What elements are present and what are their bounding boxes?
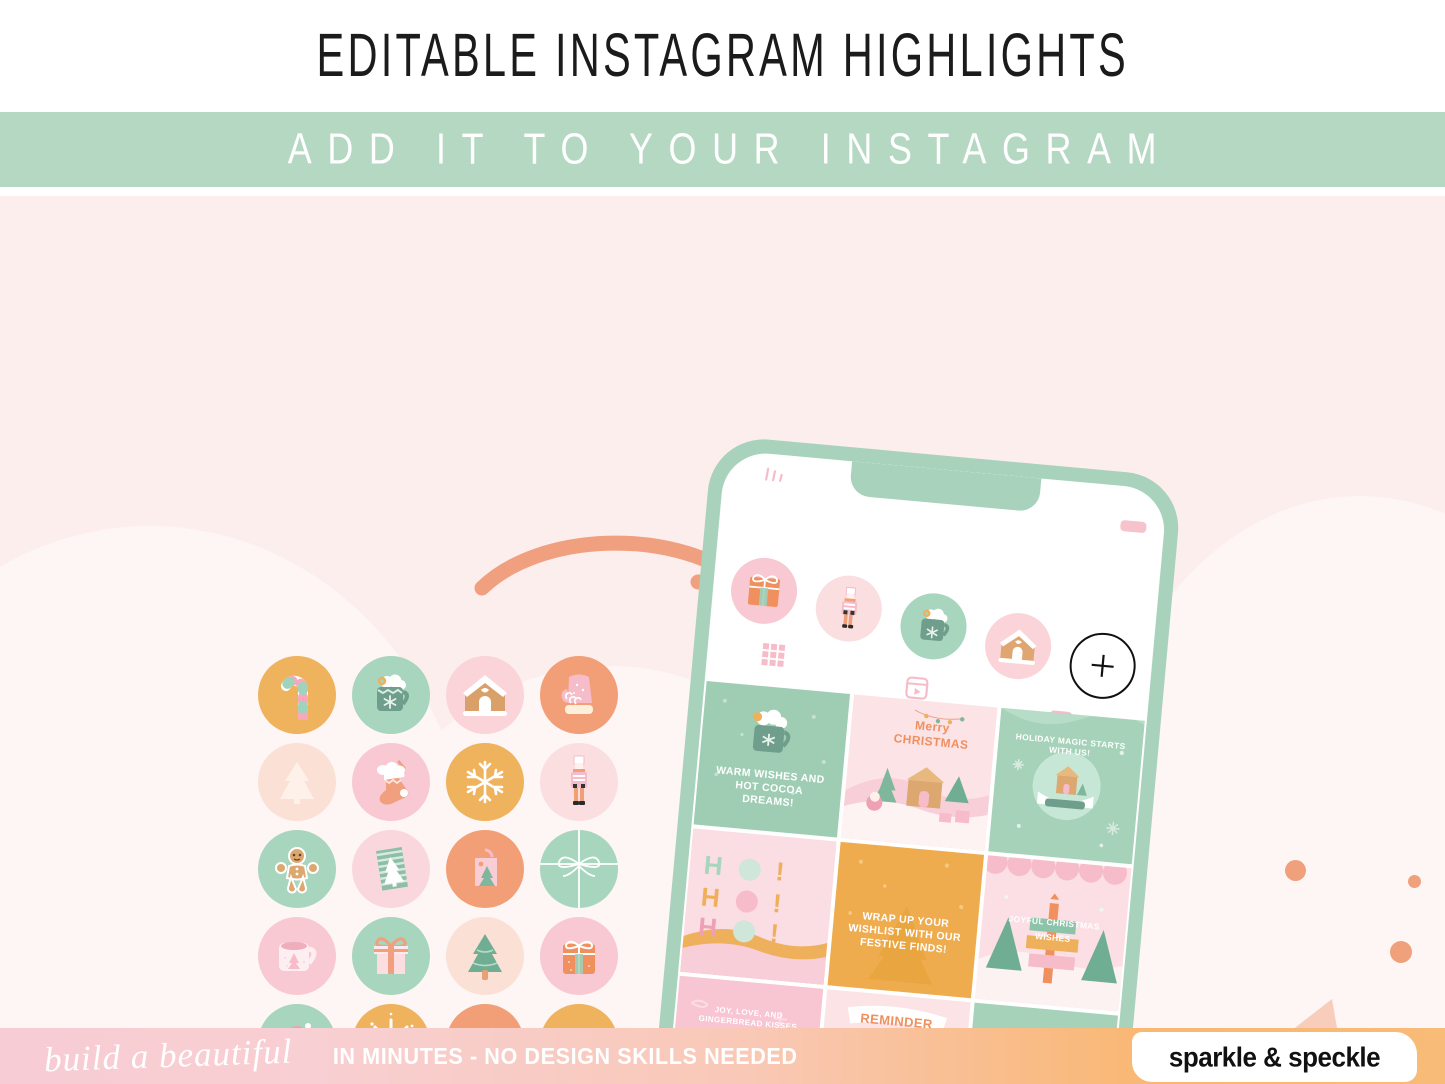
post-wrap-up-wishlist[interactable]: WRAP UP YOUR WISHLIST WITH OUR FESTIVE F…: [828, 842, 984, 998]
svg-text:H: H: [703, 850, 724, 882]
post-ho-ho-ho[interactable]: H H H !!!: [680, 828, 836, 984]
highlight-icon-grid: [250, 651, 626, 1028]
icon-cell[interactable]: [344, 825, 438, 912]
phone-screen: WARM WISHES AND HOT COCOA DREAMS!: [654, 450, 1167, 1028]
footer-script-text: build a beautiful: [43, 1032, 293, 1081]
icon-cell[interactable]: [438, 738, 532, 825]
icon-cell[interactable]: [532, 651, 626, 738]
icon-cell[interactable]: [438, 999, 532, 1028]
icon-cell[interactable]: [344, 651, 438, 738]
icon-gingerbread-man[interactable]: [258, 830, 336, 908]
post-gingerbread-kisses[interactable]: JOY, LOVE, AND GINGERBREAD KISSES: [667, 976, 823, 1028]
icon-gingerbread-house[interactable]: [446, 656, 524, 734]
main-canvas: WARM WISHES AND HOT COCOA DREAMS!: [0, 196, 1445, 1028]
icon-cell[interactable]: [344, 999, 438, 1028]
footer-tagline: IN MINUTES - NO DESIGN SKILLS NEEDED: [333, 1043, 798, 1070]
svg-text:H: H: [697, 911, 718, 943]
battery-indicator: [1120, 520, 1147, 533]
highlight-gift[interactable]: [728, 555, 800, 627]
icon-mitten[interactable]: [540, 656, 618, 734]
decor-star-icon: [1255, 991, 1405, 1028]
icon-cell[interactable]: [250, 912, 344, 999]
icon-nutcracker[interactable]: [540, 743, 618, 821]
subtitle-text: ADD IT TO YOUR INSTAGRAM: [272, 125, 1172, 174]
decor-dot-1: [1285, 860, 1306, 881]
decor-dot-3: [1390, 941, 1412, 963]
title-bar: EDITABLE INSTAGRAM HIGHLIGHTS: [0, 0, 1445, 112]
icon-cell[interactable]: [438, 912, 532, 999]
post-holiday-magic[interactable]: HOLIDAY MAGIC STARTS WITH US!: [988, 708, 1144, 864]
icon-string-lights[interactable]: [540, 1004, 618, 1029]
signal-bars-icon: [763, 465, 791, 485]
decor-dot-2: [1408, 875, 1421, 888]
icon-cell[interactable]: [532, 912, 626, 999]
icon-cell[interactable]: [344, 738, 438, 825]
icon-cell[interactable]: [344, 912, 438, 999]
svg-text:!: !: [771, 888, 782, 919]
brand-logo: sparkle & speckle: [1132, 1032, 1417, 1082]
page-title: EDITABLE INSTAGRAM HIGHLIGHTS: [316, 21, 1128, 92]
brand-name: sparkle & speckle: [1169, 1041, 1380, 1074]
icon-candy-cane[interactable]: [258, 656, 336, 734]
icon-santa[interactable]: [258, 1004, 336, 1029]
phone-mockup: WARM WISHES AND HOT COCOA DREAMS!: [660, 220, 1330, 1028]
highlight-cocoa[interactable]: [898, 590, 970, 662]
svg-text:H: H: [700, 881, 721, 913]
profile-feed-grid: WARM WISHES AND HOT COCOA DREAMS!: [656, 681, 1145, 1028]
footer-banner: build a beautiful IN MINUTES - NO DESIGN…: [0, 1028, 1445, 1084]
icon-cell[interactable]: [250, 738, 344, 825]
icon-gift-box[interactable]: [352, 917, 430, 995]
icon-gift-bow[interactable]: [540, 830, 618, 908]
post-warm-wishes[interactable]: WARM WISHES AND HOT COCOA DREAMS!: [694, 681, 850, 837]
icon-present-ribbon[interactable]: [540, 917, 618, 995]
tab-grid[interactable]: [760, 642, 786, 668]
icon-stocking[interactable]: [352, 743, 430, 821]
icon-cell[interactable]: [532, 999, 626, 1028]
icon-cell[interactable]: [532, 825, 626, 912]
svg-text:!: !: [774, 856, 785, 887]
icon-cell[interactable]: [532, 738, 626, 825]
icon-hot-cocoa-mug[interactable]: [352, 656, 430, 734]
icon-cell[interactable]: [250, 825, 344, 912]
icon-cell[interactable]: [250, 999, 344, 1028]
icon-pine-tree[interactable]: [446, 917, 524, 995]
highlight-nutcracker[interactable]: [813, 573, 885, 645]
subtitle-band: ADD IT TO YOUR INSTAGRAM: [0, 112, 1445, 187]
icon-sparkle-burst[interactable]: [352, 1004, 430, 1029]
icon-wrapped-card-tree[interactable]: [352, 830, 430, 908]
icon-snowflake[interactable]: [446, 743, 524, 821]
icon-heart[interactable]: [446, 1004, 524, 1029]
icon-cell[interactable]: [438, 651, 532, 738]
icon-cell[interactable]: [438, 825, 532, 912]
post-joyful-wishes[interactable]: JOYFUL CHRISTMAS WISHES: [975, 855, 1131, 1011]
icon-mug-with-tree[interactable]: [258, 917, 336, 995]
icon-christmas-tree[interactable]: [258, 743, 336, 821]
poster-canvas: EDITABLE INSTAGRAM HIGHLIGHTS ADD IT TO …: [0, 0, 1445, 1084]
tab-reels[interactable]: [904, 675, 930, 701]
icon-gift-tag-tree[interactable]: [446, 830, 524, 908]
post-merry-christmas[interactable]: Merry CHRISTMAS: [841, 694, 997, 850]
icon-cell[interactable]: [250, 651, 344, 738]
